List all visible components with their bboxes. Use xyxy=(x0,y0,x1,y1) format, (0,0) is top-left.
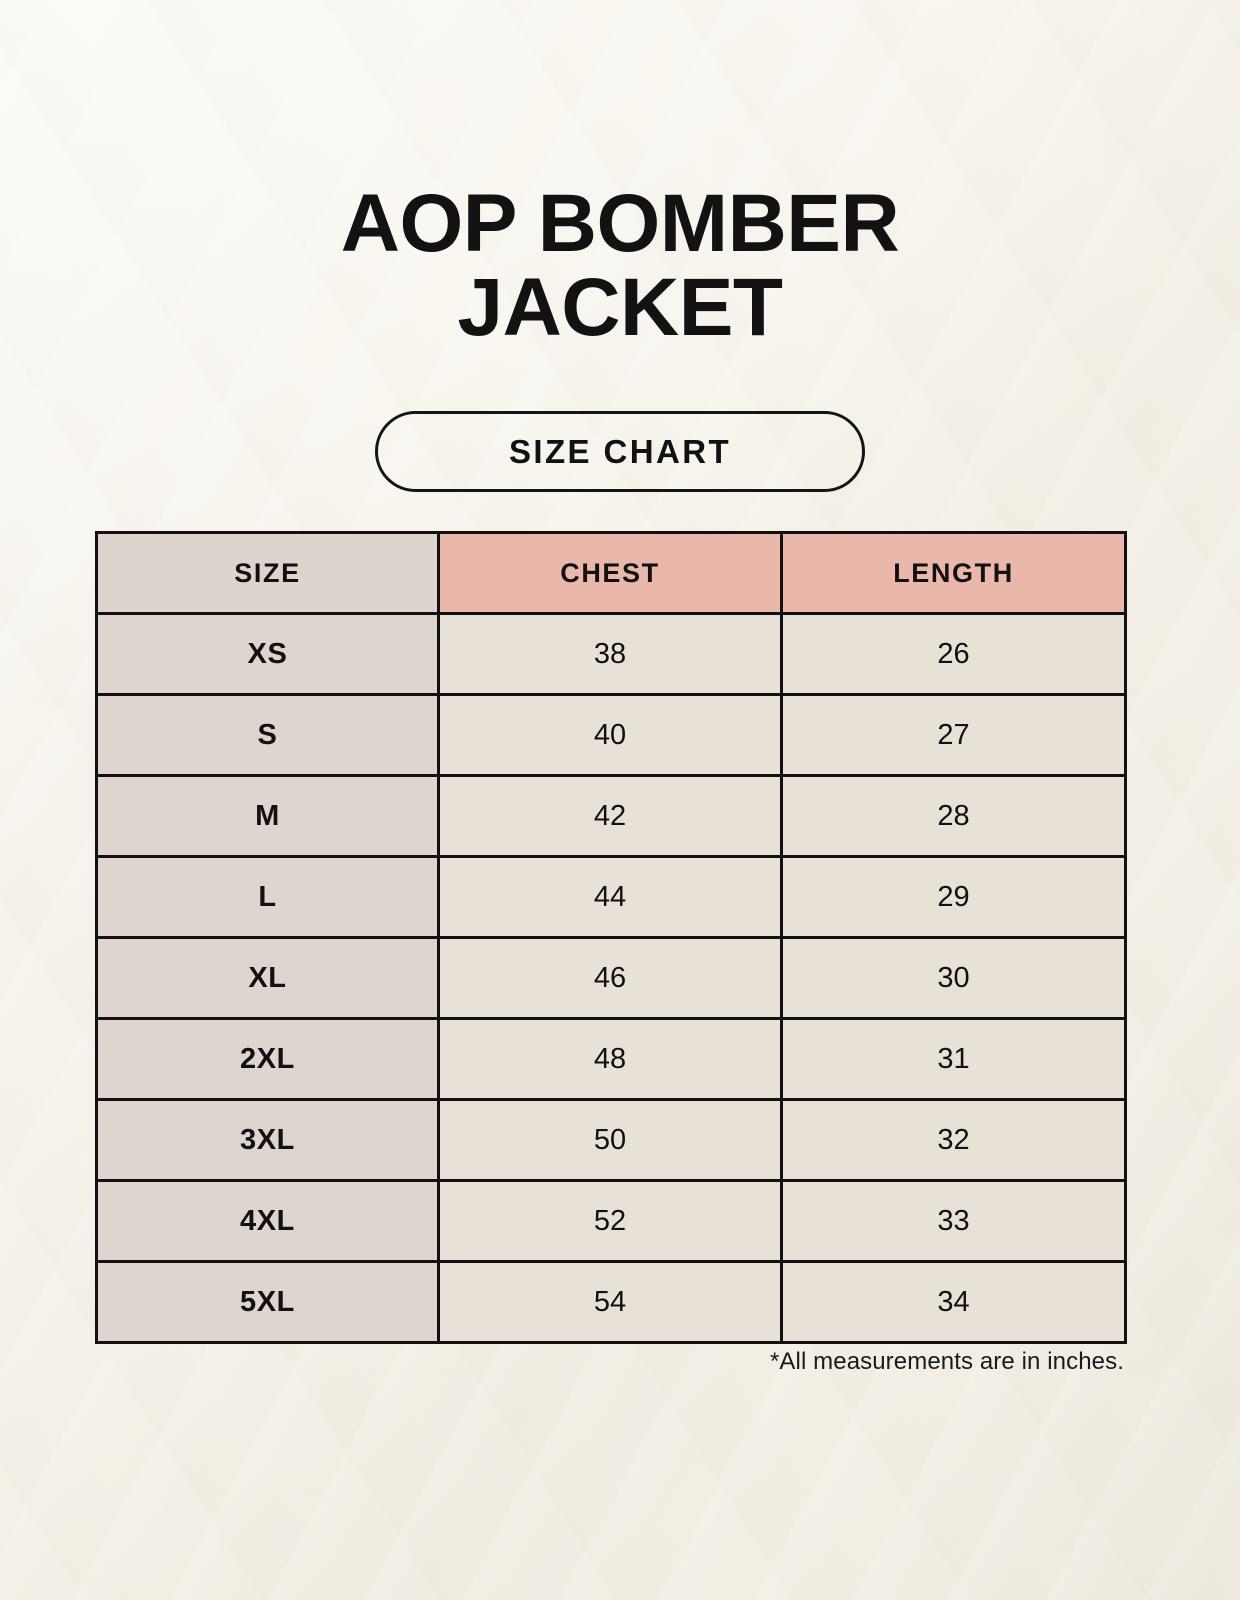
cell-chest: 44 xyxy=(439,857,782,938)
table-row: S 40 27 xyxy=(97,695,1126,776)
column-header-length: LENGTH xyxy=(782,533,1126,614)
cell-length: 34 xyxy=(782,1262,1126,1343)
badge-container: SIZE CHART xyxy=(0,411,1240,492)
cell-chest: 38 xyxy=(439,614,782,695)
column-header-chest: CHEST xyxy=(439,533,782,614)
table-row: 3XL 50 32 xyxy=(97,1100,1126,1181)
cell-chest: 52 xyxy=(439,1181,782,1262)
table-row: L 44 29 xyxy=(97,857,1126,938)
cell-size: 4XL xyxy=(97,1181,439,1262)
table-row: XL 46 30 xyxy=(97,938,1126,1019)
measurement-units-footnote: *All measurements are in inches. xyxy=(95,1348,1124,1376)
cell-size: 3XL xyxy=(97,1100,439,1181)
cell-length: 32 xyxy=(782,1100,1126,1181)
cell-length: 33 xyxy=(782,1181,1126,1262)
cell-size: 2XL xyxy=(97,1019,439,1100)
column-header-size: SIZE xyxy=(97,533,439,614)
table-row: M 42 28 xyxy=(97,776,1126,857)
size-chart-badge: SIZE CHART xyxy=(375,411,865,492)
cell-length: 27 xyxy=(782,695,1126,776)
page-title-line-2: JACKET xyxy=(0,270,1240,346)
size-table-header: SIZE CHEST LENGTH xyxy=(97,533,1126,614)
cell-length: 28 xyxy=(782,776,1126,857)
size-table-body: XS 38 26 S 40 27 M 42 28 L 44 29 xyxy=(97,614,1126,1343)
page-title-line-1: AOP BOMBER xyxy=(0,186,1240,262)
cell-size: S xyxy=(97,695,439,776)
cell-chest: 42 xyxy=(439,776,782,857)
cell-size: 5XL xyxy=(97,1262,439,1343)
table-header-row: SIZE CHEST LENGTH xyxy=(97,533,1126,614)
size-chart-page: AOP BOMBER JACKET SIZE CHART SIZE CHEST … xyxy=(0,0,1240,1600)
cell-size: L xyxy=(97,857,439,938)
page-title: AOP BOMBER JACKET xyxy=(0,186,1240,347)
size-table: SIZE CHEST LENGTH XS 38 26 S 40 27 M xyxy=(95,531,1127,1344)
cell-size: M xyxy=(97,776,439,857)
cell-length: 31 xyxy=(782,1019,1126,1100)
cell-chest: 54 xyxy=(439,1262,782,1343)
cell-size: XS xyxy=(97,614,439,695)
cell-chest: 48 xyxy=(439,1019,782,1100)
table-row: 4XL 52 33 xyxy=(97,1181,1126,1262)
cell-chest: 40 xyxy=(439,695,782,776)
cell-length: 26 xyxy=(782,614,1126,695)
cell-size: XL xyxy=(97,938,439,1019)
cell-length: 29 xyxy=(782,857,1126,938)
table-row: 5XL 54 34 xyxy=(97,1262,1126,1343)
table-row: XS 38 26 xyxy=(97,614,1126,695)
cell-chest: 50 xyxy=(439,1100,782,1181)
table-row: 2XL 48 31 xyxy=(97,1019,1126,1100)
cell-chest: 46 xyxy=(439,938,782,1019)
cell-length: 30 xyxy=(782,938,1126,1019)
size-table-container: SIZE CHEST LENGTH XS 38 26 S 40 27 M xyxy=(95,531,1124,1344)
